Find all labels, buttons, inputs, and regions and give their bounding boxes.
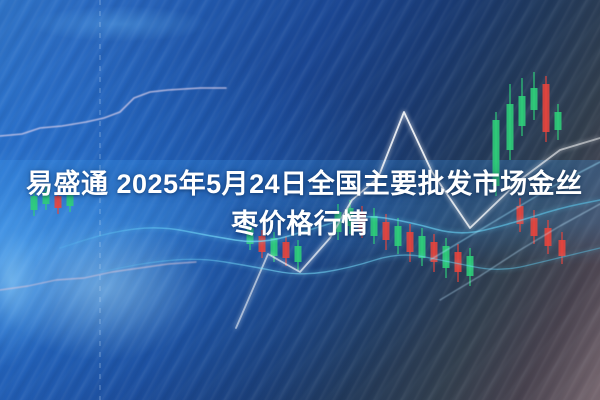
candlestick-up	[295, 246, 302, 262]
series-cyan-wave-lower	[100, 248, 600, 274]
candlestick-up	[519, 96, 526, 126]
candlestick-up	[531, 88, 538, 110]
candlestick-up	[507, 104, 514, 150]
candlestick-down	[455, 252, 462, 272]
candlestick-down	[543, 84, 550, 132]
candlestick-up	[555, 112, 562, 130]
title-line-1: 易盛通 2025年5月24日全国主要批发市场金丝	[26, 164, 574, 204]
candlestick-down	[283, 242, 290, 258]
page-title: 易盛通 2025年5月24日全国主要批发市场金丝 枣价格行情	[0, 164, 600, 244]
series-pink-step-line	[0, 88, 226, 136]
title-line-2: 枣价格行情	[26, 204, 574, 244]
stock-banner: 易盛通 2025年5月24日全国主要批发市场金丝 枣价格行情	[0, 0, 600, 400]
series-pink-step-line-lower	[0, 262, 196, 290]
